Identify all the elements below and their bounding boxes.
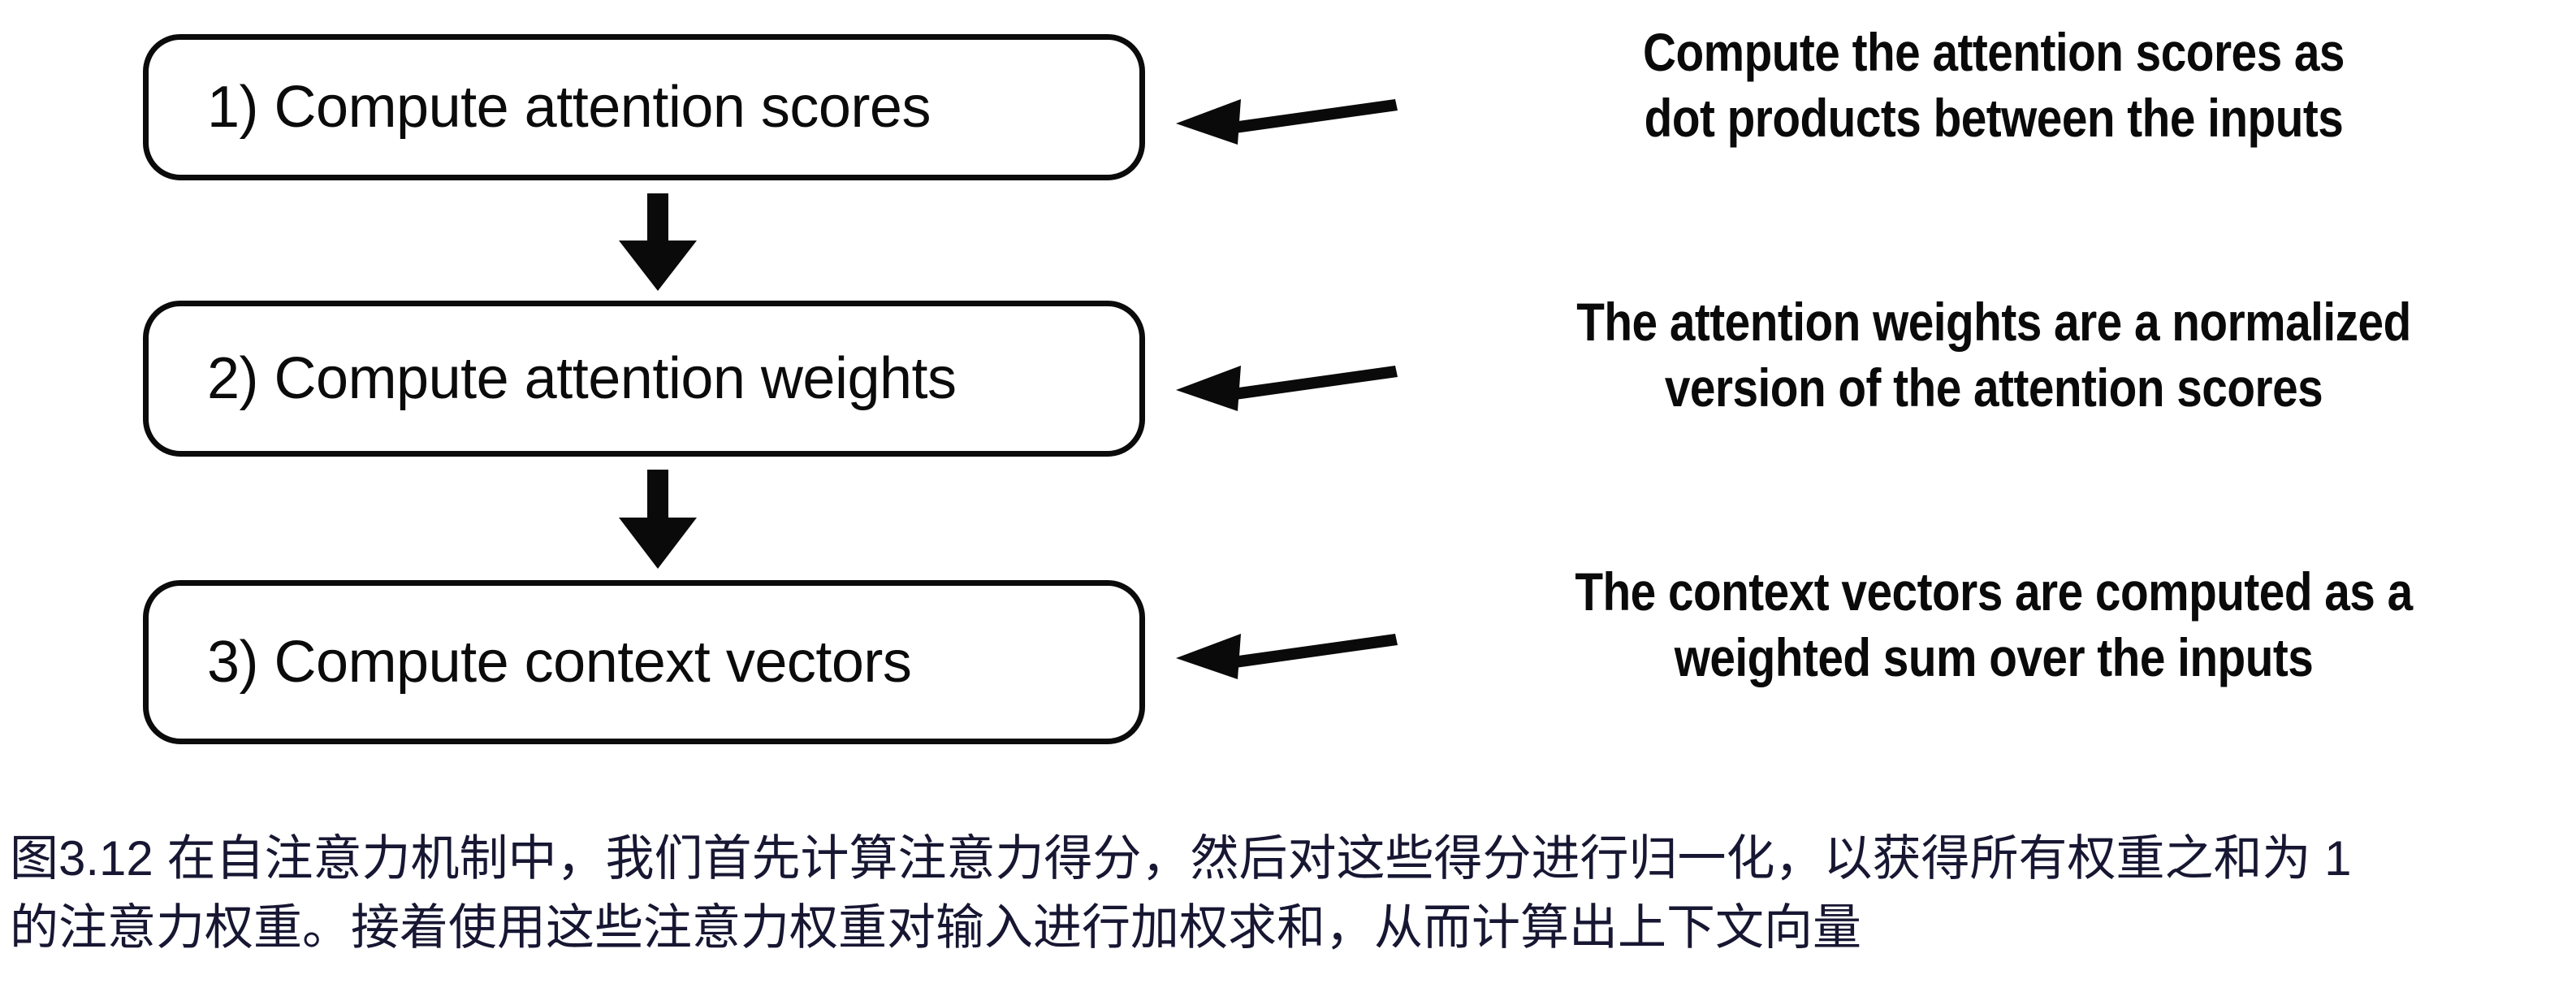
left-arrow-icon-1 [1163, 84, 1398, 158]
left-arrow-icon-2 [1163, 351, 1398, 424]
annotation-text-1: Compute the attention scores as dot prod… [1508, 19, 2479, 150]
annotation-3-line-1: The context vectors are computed as a [1508, 559, 2479, 625]
annotation-1-line-2: dot products between the inputs [1508, 85, 2479, 151]
flow-step-box-3[interactable]: 3) Compute context vectors [143, 580, 1145, 744]
annotation-2-line-1: The attention weights are a normalized [1508, 289, 2479, 355]
annotation-3-line-2: weighted sum over the inputs [1508, 625, 2479, 691]
flow-step-label-3: 3) Compute context vectors [149, 629, 911, 695]
flow-step-box-2[interactable]: 2) Compute attention weights [143, 301, 1145, 457]
annotation-text-2: The attention weights are a normalized v… [1508, 289, 2479, 420]
figure-canvas: 1) Compute attention scores 2) Compute a… [0, 0, 2576, 988]
flow-step-box-1[interactable]: 1) Compute attention scores [143, 34, 1145, 180]
down-arrow-icon-1 [607, 193, 708, 291]
annotation-2-line-2: version of the attention scores [1508, 355, 2479, 421]
down-arrow-icon-2 [607, 470, 708, 569]
figure-caption-line-2: 的注意力权重。接着使用这些注意力权重对输入进行加权求和，从而计算出上下文向量 [10, 893, 2568, 962]
annotation-text-3: The context vectors are computed as a we… [1508, 559, 2479, 690]
figure-caption-line-1: 图3.12 在自注意力机制中，我们首先计算注意力得分，然后对这些得分进行归一化，… [10, 824, 2568, 893]
flow-step-label-2: 2) Compute attention weights [149, 345, 957, 412]
flow-step-label-1: 1) Compute attention scores [149, 74, 931, 141]
annotation-1-line-1: Compute the attention scores as [1508, 19, 2479, 85]
figure-caption: 图3.12 在自注意力机制中，我们首先计算注意力得分，然后对这些得分进行归一化，… [10, 824, 2568, 962]
left-arrow-icon-3 [1163, 619, 1398, 692]
